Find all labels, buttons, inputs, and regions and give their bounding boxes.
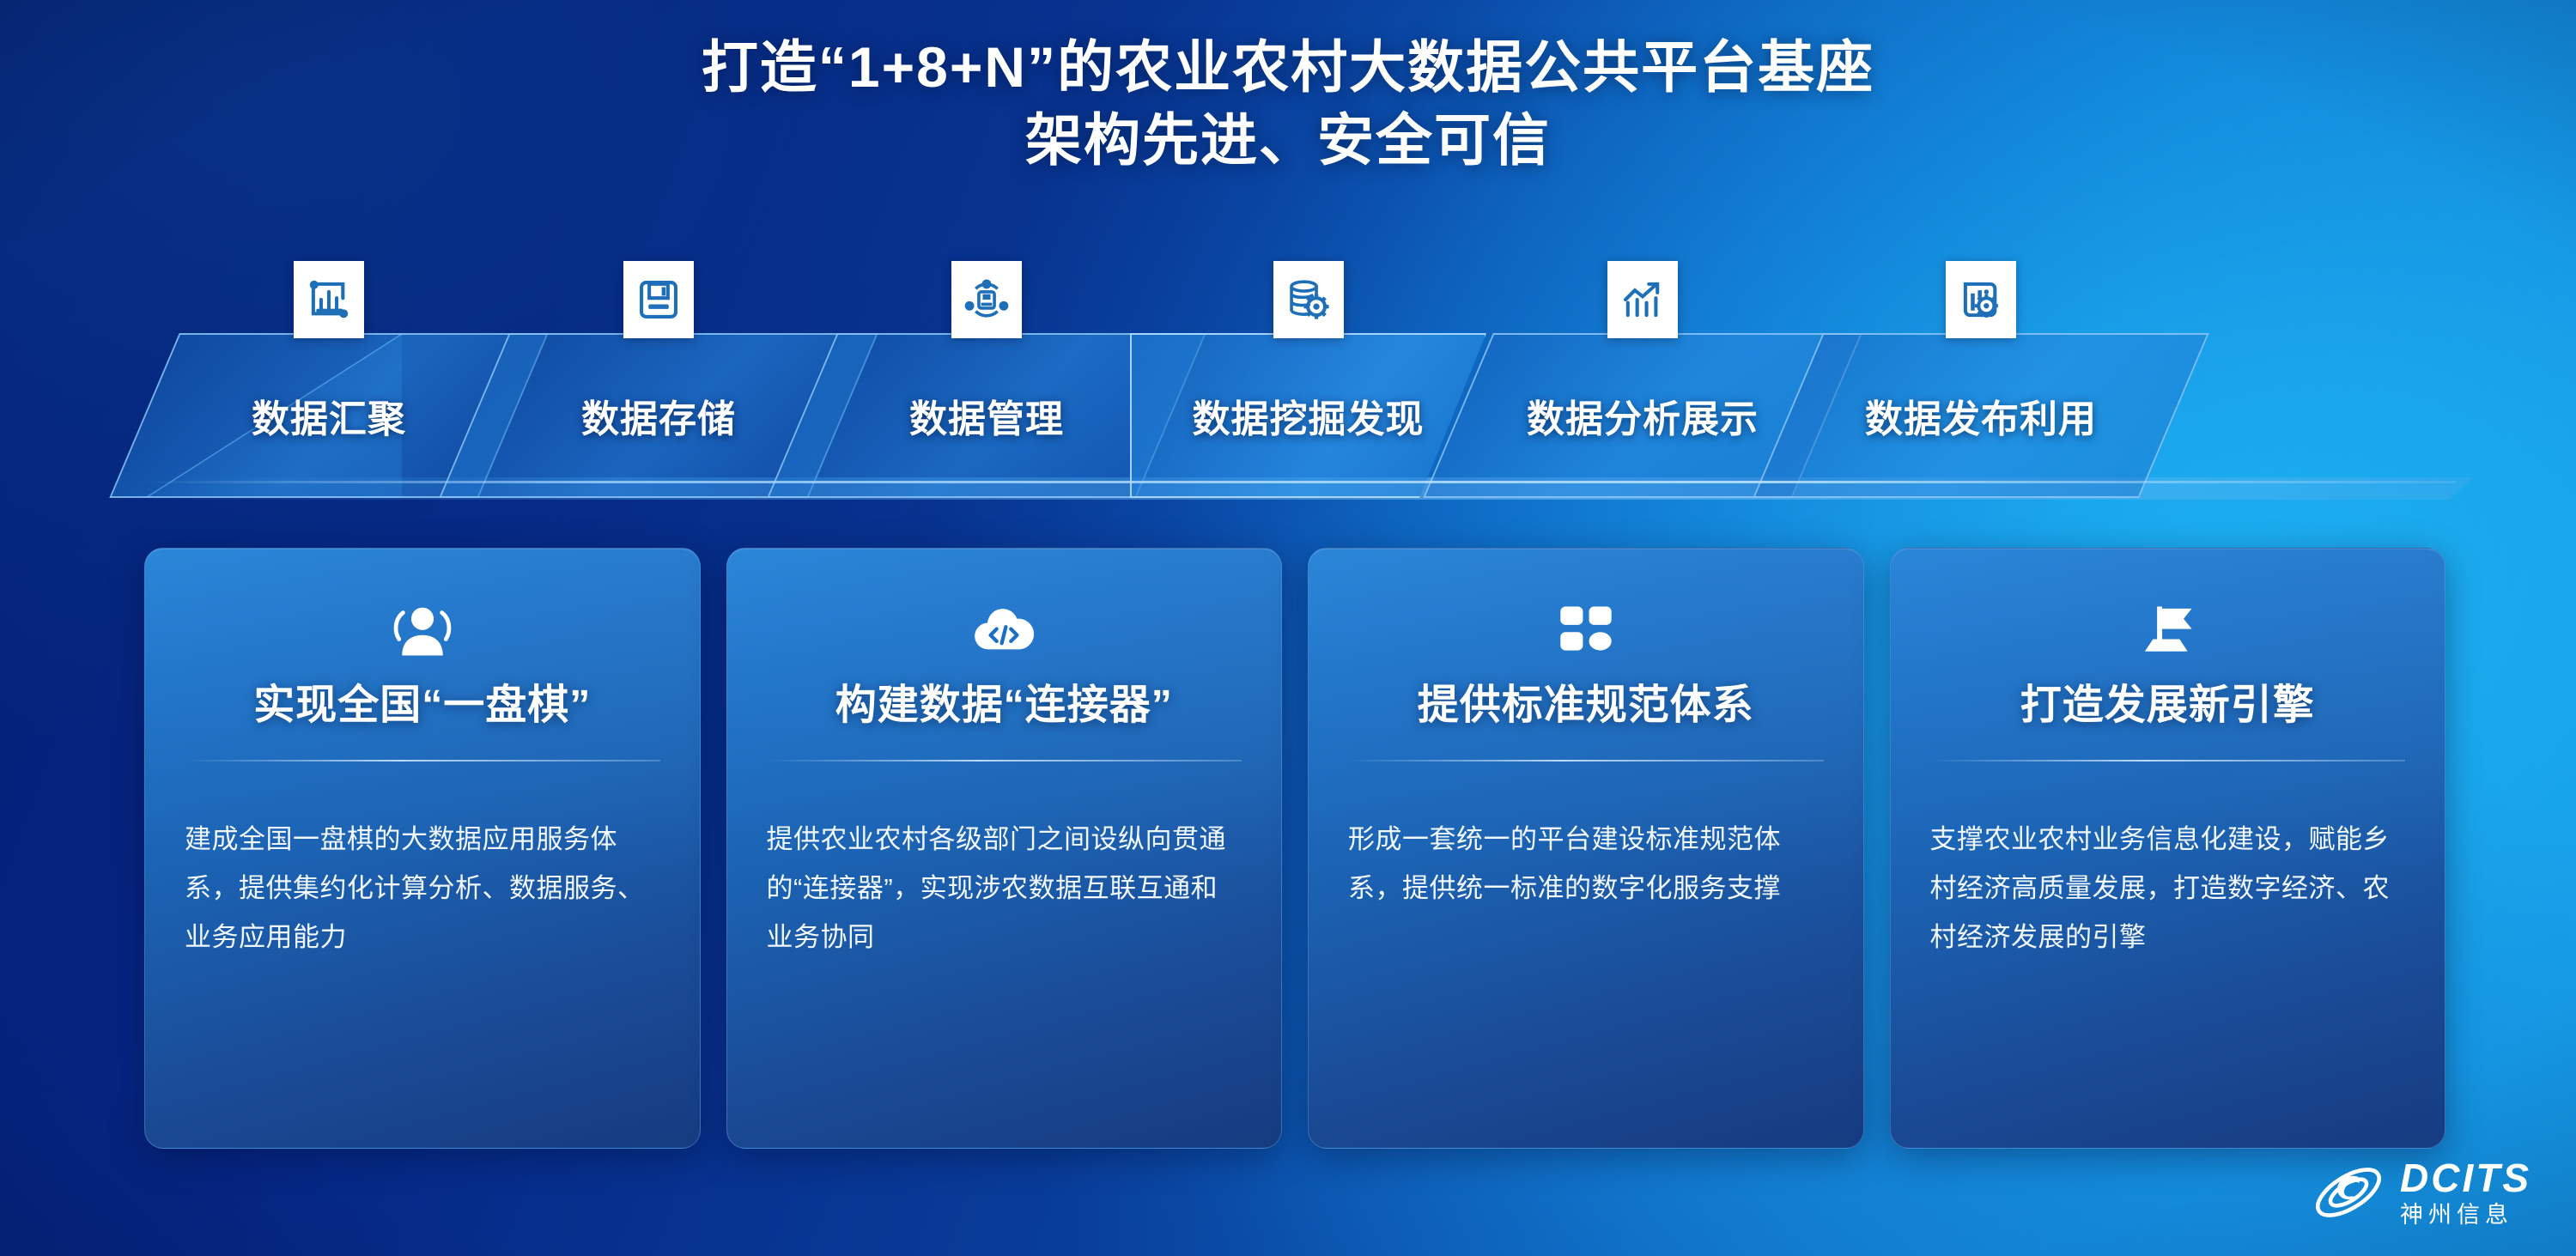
benefit-card-3[interactable]: 提供标准规范体系形成一套统一的平台建设标准规范体系，提供统一标准的数字化服务支撑 xyxy=(1308,548,1864,1149)
benefit-card-divider xyxy=(185,760,660,761)
four-blocks-icon xyxy=(1553,593,1619,669)
capability-banner: 数据汇聚 数据存储 数据管理 数据挖掘发现 数据分析展示 数据发布利用 xyxy=(0,333,2576,498)
benefit-card-divider xyxy=(1348,760,1824,761)
database-gear-icon xyxy=(1273,261,1344,338)
banner-segment-label: 数据管理 xyxy=(909,388,1064,443)
banner-plinth-line xyxy=(137,481,2456,483)
benefit-card-title: 构建数据“连接器” xyxy=(835,681,1173,731)
banner-segment-label: 数据存储 xyxy=(581,388,736,443)
benefit-card-4[interactable]: 打造发展新引擎支撑农业农村业务信息化建设，赋能乡村经济高质量发展，打造数字经济、… xyxy=(1890,548,2446,1149)
report-gear-icon xyxy=(1946,261,2016,338)
benefit-card-1[interactable]: 实现全国“一盘棋”建成全国一盘棋的大数据应用服务体系，提供集约化计算分析、数据服… xyxy=(144,548,701,1149)
benefit-card-description: 提供农业农村各级部门之间设纵向贯通的“连接器”，实现涉农数据互联互通和业务协同 xyxy=(767,815,1242,962)
cloud-code-icon xyxy=(971,593,1036,669)
benefit-card-description: 建成全国一盘棋的大数据应用服务体系，提供集约化计算分析、数据服务、业务应用能力 xyxy=(185,815,660,962)
benefit-cards: 实现全国“一盘棋”建成全国一盘棋的大数据应用服务体系，提供集约化计算分析、数据服… xyxy=(144,548,2445,1149)
page-title-line-1: 打造“1+8+N”的农业农村大数据公共平台基座 xyxy=(0,31,2576,103)
trend-chart-icon xyxy=(1607,261,1678,338)
dcits-swirl-icon xyxy=(2309,1153,2388,1232)
benefit-card-title: 打造发展新引擎 xyxy=(2020,681,2315,731)
logo-wordmark: DCITS xyxy=(2400,1158,2531,1198)
bar-chart-frame-icon xyxy=(294,261,364,338)
benefit-card-divider xyxy=(1930,760,2406,761)
floppy-disk-icon xyxy=(623,261,694,338)
banner-segment-label: 数据发布利用 xyxy=(1865,388,2097,443)
people-group-icon xyxy=(390,593,455,669)
banner-segment-label: 数据分析展示 xyxy=(1527,388,1759,443)
benefit-card-title: 提供标准规范体系 xyxy=(1418,681,1754,731)
page-title: 打造“1+8+N”的农业农村大数据公共平台基座 架构先进、安全可信 xyxy=(0,31,2576,179)
dcits-logo: DCITS 神州信息 xyxy=(2309,1153,2531,1232)
banner-segment-label: 数据汇聚 xyxy=(252,388,406,443)
banner-segment-3[interactable]: 数据管理 xyxy=(802,333,1171,498)
banner-segment-label: 数据挖掘发现 xyxy=(1193,388,1425,443)
page-title-line-2: 架构先进、安全可信 xyxy=(0,103,2576,178)
logo-text-group: DCITS 神州信息 xyxy=(2400,1158,2531,1227)
benefit-card-divider xyxy=(767,760,1242,761)
benefit-card-title: 实现全国“一盘棋” xyxy=(253,681,591,731)
benefit-card-2[interactable]: 构建数据“连接器”提供农业农村各级部门之间设纵向贯通的“连接器”，实现涉农数据互… xyxy=(726,548,1283,1149)
banner-segment-6[interactable]: 数据发布利用 xyxy=(1788,333,2174,498)
benefit-card-description: 形成一套统一的平台建设标准规范体系，提供统一标准的数字化服务支撑 xyxy=(1348,815,1824,913)
flag-icon xyxy=(2135,593,2200,669)
benefit-card-description: 支撑农业农村业务信息化建设，赋能乡村经济高质量发展，打造数字经济、农村经济发展的… xyxy=(1930,815,2406,962)
database-nodes-icon xyxy=(951,261,1022,338)
logo-subtext: 神州信息 xyxy=(2400,1204,2531,1227)
